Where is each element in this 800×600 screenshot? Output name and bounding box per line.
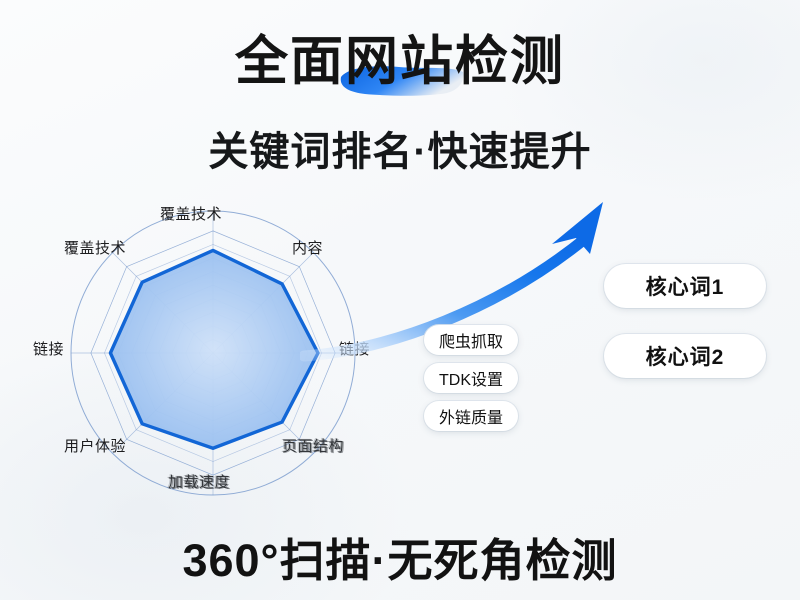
page-subtitle: 关键词排名·快速提升 bbox=[0, 119, 800, 177]
keyword-pill-1[interactable]: 核心词1 bbox=[604, 264, 766, 308]
radar-label-bottom-left: 用户体验 bbox=[64, 435, 126, 456]
headline-block: 全面网站检测 bbox=[0, 34, 800, 90]
radar-label-bottom: 加载速度 bbox=[168, 471, 230, 492]
radar-label-bottom-right: 页面结构 bbox=[282, 435, 344, 456]
feature-pill-backlink[interactable]: 外链质量 bbox=[424, 401, 518, 431]
feature-pill-crawl[interactable]: 爬虫抓取 bbox=[424, 325, 518, 355]
radar-label-top-left: 覆盖技术 bbox=[64, 237, 126, 258]
feature-pill-tdk[interactable]: TDK设置 bbox=[424, 363, 518, 393]
keyword-pill-2[interactable]: 核心词2 bbox=[604, 334, 766, 378]
page-footer-tagline: 360°扫描·无死角检测 bbox=[0, 524, 800, 589]
page-title-text: 全面网站检测 bbox=[235, 32, 565, 91]
radar-label-left: 链接 bbox=[33, 338, 64, 359]
radar-label-top: 覆盖技术 bbox=[160, 203, 222, 224]
page-title: 全面网站检测 bbox=[235, 34, 565, 90]
radar-series bbox=[110, 250, 318, 448]
